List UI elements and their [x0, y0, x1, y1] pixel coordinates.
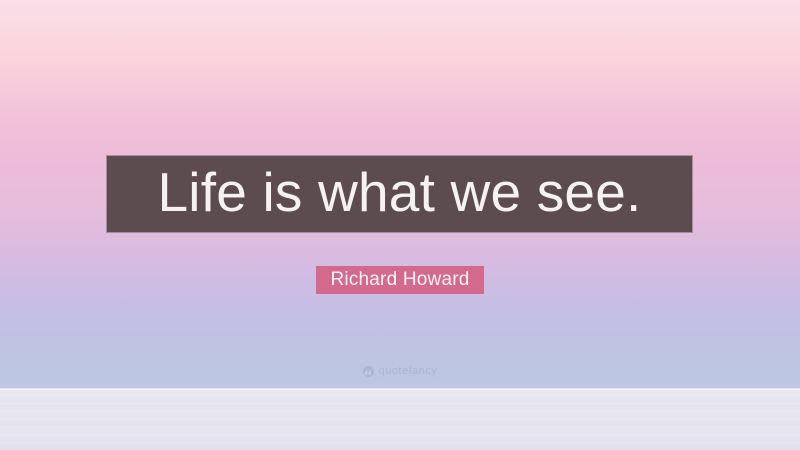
- quote-wallpaper: Life is what we see. Richard Howard quot…: [0, 0, 800, 450]
- ground-plain: [0, 389, 800, 450]
- horizon-line: [0, 388, 800, 390]
- author-name: Richard Howard: [330, 270, 469, 291]
- quote-text: Life is what we see.: [158, 165, 642, 224]
- author-banner: Richard Howard: [316, 266, 484, 294]
- quote-banner: Life is what we see.: [107, 156, 692, 232]
